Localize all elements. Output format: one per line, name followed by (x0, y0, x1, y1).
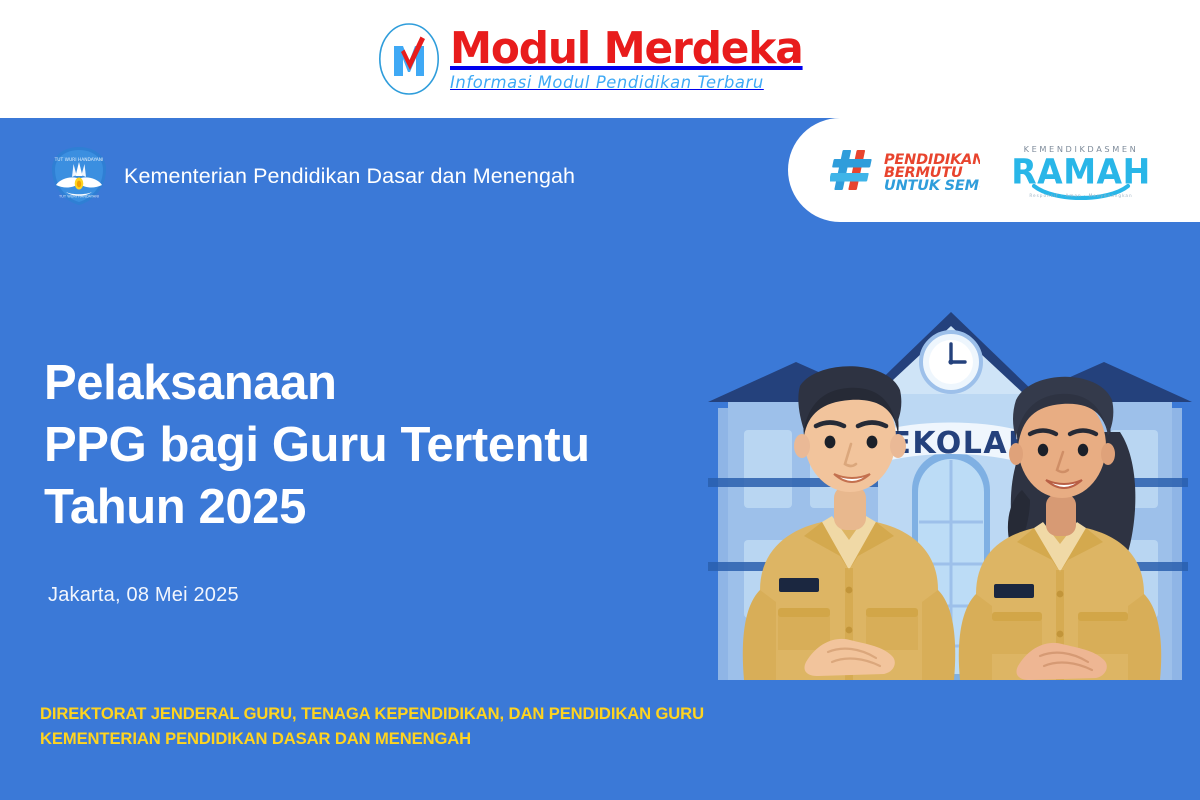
place-and-date: Jakarta, 08 Mei 2025 (48, 584, 239, 607)
headline-line-1: Pelaksanaan (44, 356, 337, 410)
ministry-lockup: TUT WURI HANDAYANI TUT WURI HANDAYANI Ke… (48, 145, 575, 207)
brand-title: Modul Merdeka (450, 27, 803, 71)
brand-logo-link[interactable]: Modul Merdeka Informasi Modul Pendidikan… (378, 22, 817, 96)
svg-text:TUT WURI HANDAYANI: TUT WURI HANDAYANI (54, 157, 104, 163)
svg-text:Responsif · Aman · Menyenangka: Responsif · Aman · Menyenangkan (1029, 193, 1132, 198)
hero-headline: Pelaksanaan PPG bagi Guru Tertentu Tahun… (44, 352, 744, 539)
headline-line-2: PPG bagi Guru Tertentu (44, 418, 590, 472)
svg-text:UNTUK SEMUA: UNTUK SEMUA (884, 178, 980, 194)
teachers-school-illustration: SEKOLAH (700, 290, 1200, 680)
modul-merdeka-mark-icon (378, 22, 440, 96)
partner-logos-badge: PENDIDIKAN BERMUTU UNTUK SEMUA KEMENDIKD… (788, 118, 1200, 222)
footer-line-2: KEMENTERIAN PENDIDIKAN DASAR DAN MENENGA… (40, 727, 704, 752)
pendidikan-bermutu-logo-icon: PENDIDIKAN BERMUTU UNTUK SEMUA (830, 144, 980, 196)
brand-tagline: Informasi Modul Pendidikan Terbaru (450, 75, 814, 92)
svg-text:TUT WURI HANDAYANI: TUT WURI HANDAYANI (58, 195, 99, 199)
ministry-name: Kementerian Pendidikan Dasar dan Menenga… (124, 164, 575, 189)
ramah-logo-icon: KEMENDIKDASMEN RAMAH Responsif · Aman · … (1006, 140, 1156, 200)
tut-wuri-handayani-logo-icon: TUT WURI HANDAYANI TUT WURI HANDAYANI (48, 145, 110, 207)
hero-banner: TUT WURI HANDAYANI TUT WURI HANDAYANI Ke… (0, 118, 1200, 800)
headline-line-3: Tahun 2025 (44, 480, 306, 534)
footer-line-1: DIREKTORAT JENDERAL GURU, TENAGA KEPENDI… (40, 702, 704, 727)
site-header: Modul Merdeka Informasi Modul Pendidikan… (0, 0, 1200, 118)
organizer-footer: DIREKTORAT JENDERAL GURU, TENAGA KEPENDI… (40, 702, 704, 752)
